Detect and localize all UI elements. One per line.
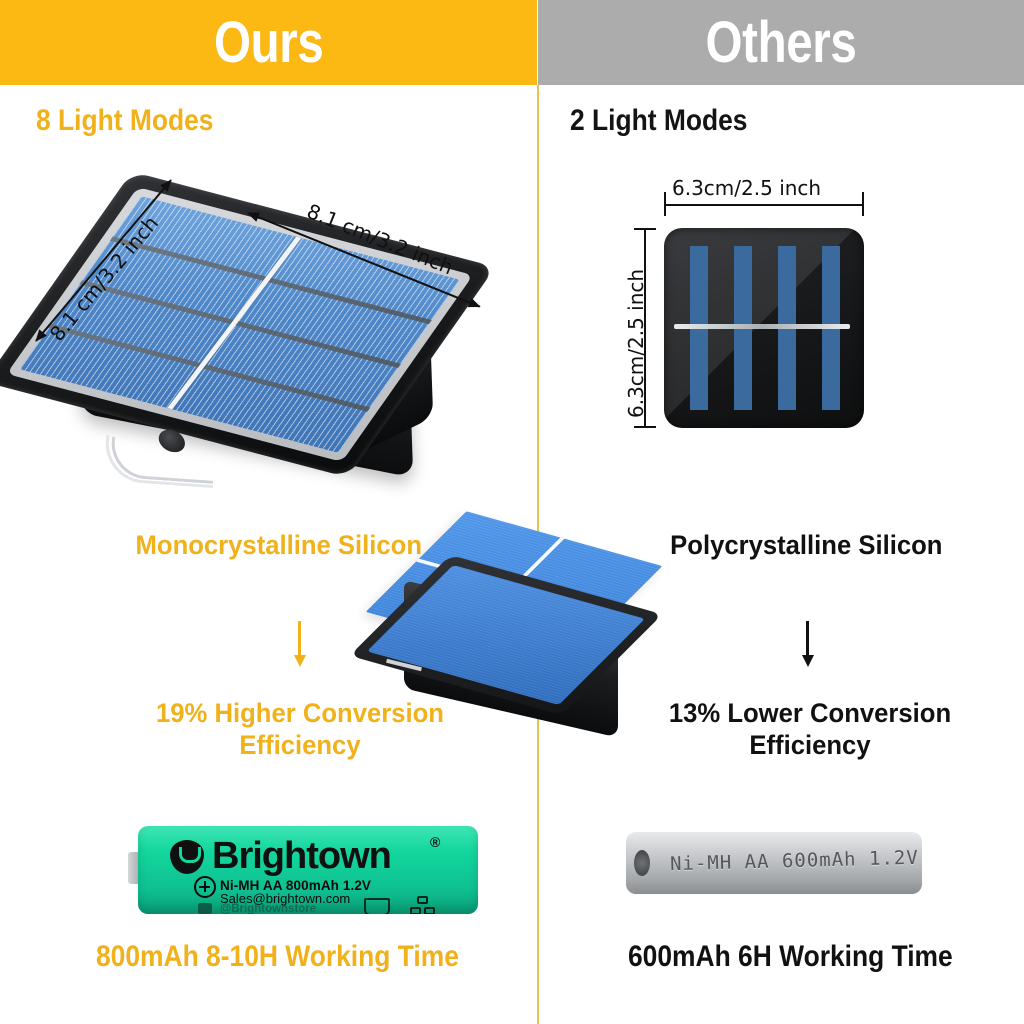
dim-bracket-top [664, 204, 864, 206]
solar-panel-ours-image: 8.1 cm/3.2 inch 8.1 cm/3.2 inch [20, 170, 520, 490]
battery-ours-caption: 800mAh 8-10H Working Time [96, 940, 459, 974]
down-arrow-others-icon [806, 621, 809, 667]
exploded-panel-image [398, 513, 648, 743]
solar-panel-others-image: 6.3cm/2.5 inch 6.3cm/2.5 inch [600, 170, 900, 490]
crossed-bin-icon [364, 898, 390, 914]
header-band: Ours Others [0, 0, 1024, 85]
dim-label-height: 6.3cm/2.5 inch [624, 269, 648, 418]
battery-others-spec: Ni-MH AA 600mAh 1.2V [670, 847, 919, 876]
dim-label-width: 6.3cm/2.5 inch [672, 176, 821, 200]
battery-others-terminal [634, 850, 650, 876]
battery-ours-image: Brightown ® Ni-MH AA 800mAh 1.2V Sales@b… [138, 826, 478, 914]
header-others: Others [538, 0, 1024, 85]
silicon-efficiency-row: Monocrystalline Silicon Polycrystalline … [0, 505, 1024, 790]
small-panel-body [664, 228, 864, 428]
battery-others-image: Ni-MH AA 600mAh 1.2V [626, 832, 922, 894]
brightown-logo-icon [170, 840, 204, 874]
battery-ours-origin: Made in China [242, 913, 306, 914]
header-ours: Ours [0, 0, 537, 85]
registered-mark: ® [430, 834, 440, 850]
comparison-infographic: Ours Others 8 Light Modes 2 Light Modes [0, 0, 1024, 1024]
recycle-icon [410, 896, 436, 914]
efficiency-others: 13% Lower Conversion Efficiency [639, 697, 981, 761]
small-panel-busbar [674, 324, 850, 329]
silicon-type-others: Polycrystalline Silicon [670, 530, 942, 560]
battery-others-caption: 600mAh 6H Working Time [628, 940, 953, 974]
light-modes-others: 2 Light Modes [570, 104, 747, 138]
panel-comparison-zone: 8.1 cm/3.2 inch 8.1 cm/3.2 inch 6.3cm/2.… [0, 150, 1024, 500]
positive-terminal-icon [194, 876, 216, 898]
header-others-title: Others [706, 14, 857, 72]
battery-brand: Brightown [212, 836, 391, 876]
silicon-type-ours: Monocrystalline Silicon [136, 530, 422, 560]
light-modes-ours: 8 Light Modes [36, 104, 213, 138]
facebook-icon [198, 903, 212, 914]
battery-comparison-row: Brightown ® Ni-MH AA 800mAh 1.2V Sales@b… [0, 800, 1024, 1024]
down-arrow-ours-icon [298, 621, 301, 667]
header-ours-title: Ours [214, 14, 323, 72]
